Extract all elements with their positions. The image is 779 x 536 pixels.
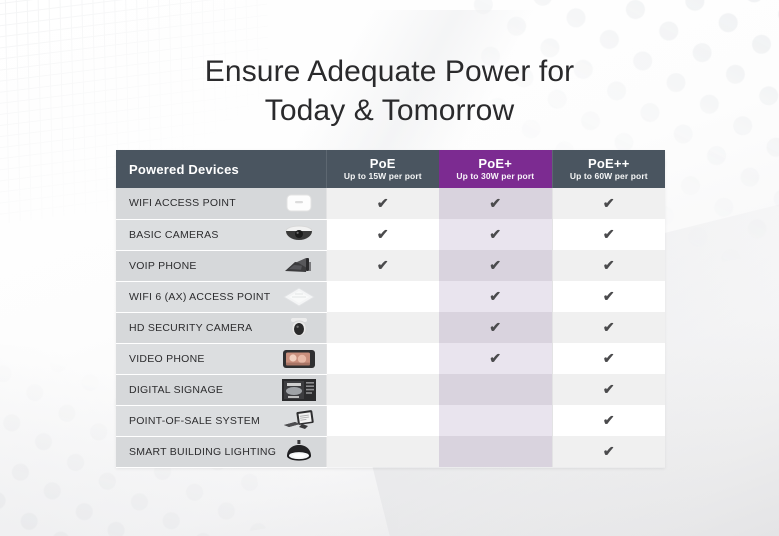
poe-cell: ✔ <box>326 436 439 467</box>
check-icon: ✔ <box>489 288 501 304</box>
header-poe-plus-subtitle: Up to 30W per port <box>439 171 552 182</box>
device-name-cell: WIFI 6 (AX) ACCESS POINT <box>116 281 326 312</box>
dome-camera-icon <box>280 222 318 248</box>
check-icon: ✔ <box>489 319 501 335</box>
poe-plus-plus-cell: ✔ <box>552 188 665 219</box>
device-label: POINT-OF-SALE SYSTEM <box>129 415 260 427</box>
poe-plus-cell: ✔ <box>439 405 552 436</box>
check-icon: ✔ <box>489 195 501 211</box>
poe-plus-cell: ✔ <box>439 219 552 250</box>
header-poe-plus: PoE+ Up to 30W per port <box>439 150 552 188</box>
check-icon: ✔ <box>377 257 389 273</box>
device-label: SMART BUILDING LIGHTING <box>129 446 276 458</box>
check-icon: ✔ <box>377 195 389 211</box>
pos-terminal-icon <box>280 408 318 434</box>
high-bay-light-icon <box>280 439 318 465</box>
header-poe-name: PoE <box>327 156 440 171</box>
header-poe: PoE Up to 15W per port <box>326 150 439 188</box>
poe-plus-cell: ✔ <box>439 312 552 343</box>
table-row: VIDEO PHONE✔✔✔ <box>116 343 665 374</box>
poe-plus-plus-cell: ✔ <box>552 405 665 436</box>
poe-plus-cell: ✔ <box>439 436 552 467</box>
page-title-line-1: Ensure Adequate Power for <box>0 52 779 91</box>
check-icon: ✔ <box>603 443 615 459</box>
device-label: VOIP PHONE <box>129 260 197 272</box>
poe-plus-cell: ✔ <box>439 374 552 405</box>
device-name-cell: SMART BUILDING LIGHTING <box>116 436 326 467</box>
poe-plus-cell: ✔ <box>439 281 552 312</box>
check-icon: ✔ <box>603 381 615 397</box>
check-icon: ✔ <box>603 226 615 242</box>
poe-cell: ✔ <box>326 343 439 374</box>
poe-comparison-table: Powered Devices PoE Up to 15W per port P… <box>116 150 665 468</box>
check-icon: ✔ <box>603 319 615 335</box>
poe-plus-plus-cell: ✔ <box>552 250 665 281</box>
table-row: VOIP PHONE✔✔✔ <box>116 250 665 281</box>
device-label: WIFI ACCESS POINT <box>129 197 236 209</box>
check-icon: ✔ <box>489 226 501 242</box>
check-icon: ✔ <box>603 412 615 428</box>
table-row: BASIC CAMERAS✔✔✔ <box>116 219 665 250</box>
check-icon: ✔ <box>603 288 615 304</box>
table-row: POINT-OF-SALE SYSTEM✔✔✔ <box>116 405 665 436</box>
device-name-cell: VIDEO PHONE <box>116 343 326 374</box>
device-name-cell: HD SECURITY CAMERA <box>116 312 326 343</box>
check-icon: ✔ <box>603 350 615 366</box>
device-name-cell: WIFI ACCESS POINT <box>116 188 326 219</box>
table-header-row: Powered Devices PoE Up to 15W per port P… <box>116 150 665 188</box>
check-icon: ✔ <box>603 257 615 273</box>
device-label: WIFI 6 (AX) ACCESS POINT <box>129 291 270 303</box>
page-title: Ensure Adequate Power for Today & Tomorr… <box>0 52 779 130</box>
header-poe-plus-name: PoE+ <box>439 156 552 171</box>
check-icon: ✔ <box>377 226 389 242</box>
device-label: HD SECURITY CAMERA <box>129 322 252 334</box>
table-row: WIFI 6 (AX) ACCESS POINT✔✔✔ <box>116 281 665 312</box>
poe-plus-cell: ✔ <box>439 250 552 281</box>
table-header: Powered Devices PoE Up to 15W per port P… <box>116 150 665 188</box>
check-icon: ✔ <box>489 257 501 273</box>
table-row: HD SECURITY CAMERA✔✔✔ <box>116 312 665 343</box>
table-body: WIFI ACCESS POINT✔✔✔BASIC CAMERAS✔✔✔VOIP… <box>116 188 665 467</box>
header-poe-plus-plus: PoE++ Up to 60W per port <box>552 150 665 188</box>
device-name-cell: POINT-OF-SALE SYSTEM <box>116 405 326 436</box>
device-name-cell: DIGITAL SIGNAGE <box>116 374 326 405</box>
poe-plus-plus-cell: ✔ <box>552 281 665 312</box>
poe-cell: ✔ <box>326 281 439 312</box>
device-label: DIGITAL SIGNAGE <box>129 384 223 396</box>
header-poe-plus-plus-subtitle: Up to 60W per port <box>553 171 666 182</box>
page-title-line-2: Today & Tomorrow <box>0 91 779 130</box>
wifi6-access-point-icon <box>280 284 318 310</box>
poe-plus-plus-cell: ✔ <box>552 312 665 343</box>
wifi-access-point-icon <box>280 190 318 216</box>
device-label: BASIC CAMERAS <box>129 229 219 241</box>
table-row: WIFI ACCESS POINT✔✔✔ <box>116 188 665 219</box>
header-powered-devices: Powered Devices <box>116 150 326 188</box>
video-phone-icon <box>280 346 318 372</box>
poe-plus-cell: ✔ <box>439 343 552 374</box>
poe-plus-plus-cell: ✔ <box>552 343 665 374</box>
desk-phone-icon <box>280 253 318 279</box>
table-row: DIGITAL SIGNAGE✔✔✔ <box>116 374 665 405</box>
poe-plus-plus-cell: ✔ <box>552 374 665 405</box>
device-name-cell: BASIC CAMERAS <box>116 219 326 250</box>
device-name-cell: VOIP PHONE <box>116 250 326 281</box>
device-label: VIDEO PHONE <box>129 353 205 365</box>
poe-cell: ✔ <box>326 219 439 250</box>
header-poe-subtitle: Up to 15W per port <box>327 171 440 182</box>
check-icon: ✔ <box>603 195 615 211</box>
table-row: SMART BUILDING LIGHTING✔✔✔ <box>116 436 665 467</box>
poe-cell: ✔ <box>326 374 439 405</box>
poe-plus-plus-cell: ✔ <box>552 436 665 467</box>
poe-cell: ✔ <box>326 188 439 219</box>
poe-plus-cell: ✔ <box>439 188 552 219</box>
turret-camera-icon <box>280 315 318 341</box>
poe-plus-plus-cell: ✔ <box>552 219 665 250</box>
check-icon: ✔ <box>489 350 501 366</box>
header-poe-plus-plus-name: PoE++ <box>553 156 666 171</box>
digital-signage-icon <box>280 377 318 403</box>
poe-cell: ✔ <box>326 405 439 436</box>
poe-cell: ✔ <box>326 312 439 343</box>
poe-cell: ✔ <box>326 250 439 281</box>
